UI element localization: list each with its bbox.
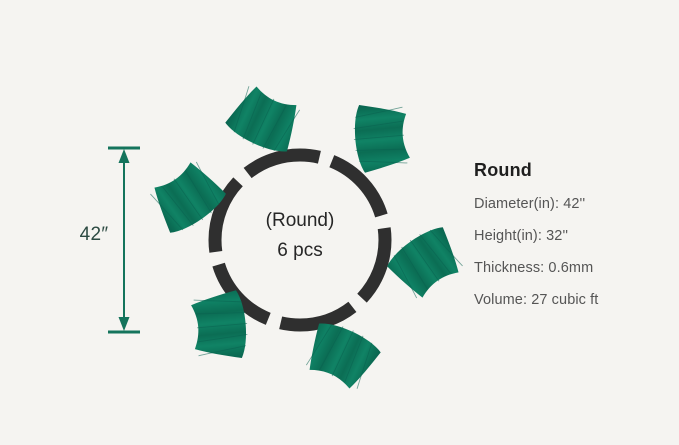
spec-row-thickness: Thickness: 0.6mm bbox=[474, 260, 664, 276]
dimension-arrowhead-down bbox=[119, 317, 130, 331]
spec-row-volume: Volume: 27 cubic ft bbox=[474, 292, 664, 308]
center-label-line-1: (Round) bbox=[215, 206, 385, 236]
spec-title: Round bbox=[474, 160, 664, 181]
center-label-line-2: 6 pcs bbox=[215, 236, 385, 266]
petal-1 bbox=[222, 81, 307, 159]
petal-3 bbox=[382, 221, 469, 304]
dimension-label: 42″ bbox=[68, 224, 120, 246]
spec-row-height: Height(in): 32'' bbox=[474, 228, 664, 244]
product-diagram-canvas: 42″ (Round) 6 pcs Round Diameter(in): 42… bbox=[0, 0, 679, 445]
petal-2 bbox=[351, 101, 411, 173]
ring-center-label: (Round) 6 pcs bbox=[215, 206, 385, 266]
spec-row-diameter: Diameter(in): 42'' bbox=[474, 196, 664, 212]
dimension-arrowhead-up bbox=[119, 149, 130, 163]
specification-panel: Round Diameter(in): 42'' Height(in): 32'… bbox=[474, 160, 664, 308]
